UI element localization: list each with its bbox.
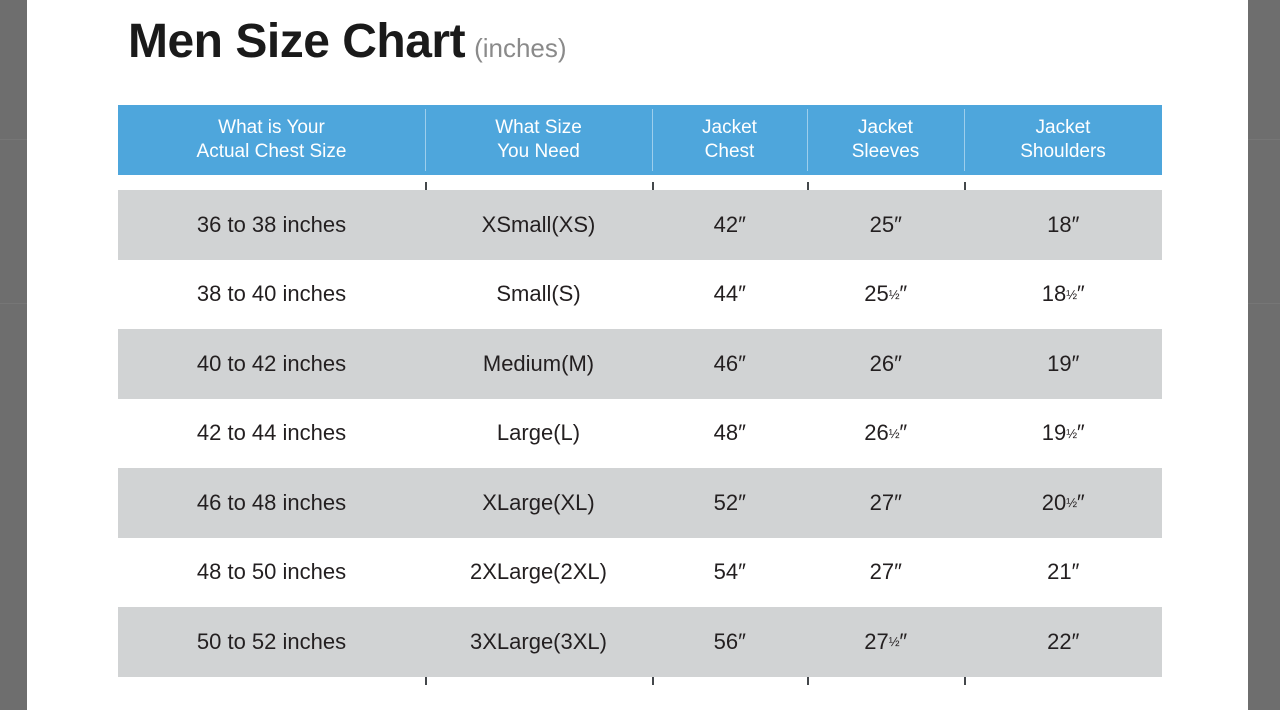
- column-header-line2: Chest: [705, 140, 755, 164]
- letterbox-right: [1248, 0, 1280, 710]
- cell-actual-chest-size: 36 to 38 inches: [118, 190, 425, 260]
- inch-mark-glyph: ″: [738, 490, 745, 516]
- size-chart-page: Men Size Chart(inches) What is Your Actu…: [27, 0, 1248, 710]
- cell-jacket-shoulders: 21″: [964, 538, 1162, 608]
- letterbox-seam: [0, 139, 27, 140]
- cell-actual-chest-size: 50 to 52 inches: [118, 607, 425, 677]
- cell-jacket-chest: 46″: [652, 329, 807, 399]
- inch-mark-glyph: ″: [1072, 351, 1079, 377]
- table-row[interactable]: 36 to 38 inchesXSmall(XS)42″25″18″: [118, 190, 1162, 260]
- inch-mark-glyph: ″: [738, 559, 745, 585]
- column-header-line1: What Size: [495, 116, 582, 140]
- cell-jacket-shoulders: 18″: [964, 190, 1162, 260]
- letterbox-seam: [1248, 303, 1280, 304]
- cell-jacket-sleeves: 27½″: [807, 607, 964, 677]
- inch-mark-glyph: ″: [1077, 281, 1084, 307]
- cell-size-you-need: 3XLarge(3XL): [425, 607, 652, 677]
- size-chart-table: What is Your Actual Chest Size What Size…: [118, 105, 1162, 677]
- cell-jacket-sleeves: 25½″: [807, 260, 964, 330]
- half-fraction-glyph: ½: [889, 287, 900, 302]
- inch-mark-glyph: ″: [1077, 490, 1084, 516]
- inch-mark-glyph: ″: [1072, 629, 1079, 655]
- cell-size-you-need: XLarge(XL): [425, 468, 652, 538]
- inch-mark-glyph: ″: [899, 420, 906, 446]
- column-header-line1: Jacket: [702, 116, 757, 140]
- cell-jacket-shoulders: 20½″: [964, 468, 1162, 538]
- cell-actual-chest-size: 42 to 44 inches: [118, 399, 425, 469]
- letterbox-left: [0, 0, 27, 710]
- half-fraction-glyph: ½: [889, 634, 900, 649]
- cell-jacket-sleeves: 26½″: [807, 399, 964, 469]
- table-body: 36 to 38 inchesXSmall(XS)42″25″18″38 to …: [118, 190, 1162, 677]
- column-header-jacket-sleeves: Jacket Sleeves: [807, 105, 964, 175]
- inch-mark-glyph: ″: [738, 420, 745, 446]
- table-row[interactable]: 48 to 50 inches2XLarge(2XL)54″27″21″: [118, 538, 1162, 608]
- cell-jacket-shoulders: 18½″: [964, 260, 1162, 330]
- cell-actual-chest-size: 48 to 50 inches: [118, 538, 425, 608]
- cell-size-you-need: Medium(M): [425, 329, 652, 399]
- inch-mark-glyph: ″: [1072, 212, 1079, 238]
- inch-mark-glyph: ″: [894, 351, 901, 377]
- inch-mark-glyph: ″: [899, 629, 906, 655]
- cell-size-you-need: 2XLarge(2XL): [425, 538, 652, 608]
- table-row[interactable]: 42 to 44 inchesLarge(L)48″26½″19½″: [118, 399, 1162, 469]
- cell-actual-chest-size: 38 to 40 inches: [118, 260, 425, 330]
- cell-jacket-sleeves: 26″: [807, 329, 964, 399]
- cell-jacket-shoulders: 19″: [964, 329, 1162, 399]
- table-row[interactable]: 46 to 48 inchesXLarge(XL)52″27″20½″: [118, 468, 1162, 538]
- column-header-actual-chest-size: What is Your Actual Chest Size: [118, 105, 425, 175]
- cell-jacket-chest: 44″: [652, 260, 807, 330]
- table-row[interactable]: 50 to 52 inches3XLarge(3XL)56″27½″22″: [118, 607, 1162, 677]
- table-row[interactable]: 40 to 42 inchesMedium(M)46″26″19″: [118, 329, 1162, 399]
- half-fraction-glyph: ½: [1066, 426, 1077, 441]
- table-header-row: What is Your Actual Chest Size What Size…: [118, 105, 1162, 175]
- cell-jacket-chest: 48″: [652, 399, 807, 469]
- cell-jacket-chest: 54″: [652, 538, 807, 608]
- letterbox-seam: [0, 303, 27, 304]
- inch-mark-glyph: ″: [738, 351, 745, 377]
- cell-size-you-need: Small(S): [425, 260, 652, 330]
- column-header-line1: Jacket: [1036, 116, 1091, 140]
- letterbox-seam: [1248, 139, 1280, 140]
- half-fraction-glyph: ½: [1066, 287, 1077, 302]
- cell-jacket-chest: 52″: [652, 468, 807, 538]
- inch-mark-glyph: ″: [894, 212, 901, 238]
- half-fraction-glyph: ½: [889, 426, 900, 441]
- cell-jacket-sleeves: 27″: [807, 538, 964, 608]
- inch-mark-glyph: ″: [738, 629, 745, 655]
- half-fraction-glyph: ½: [1066, 495, 1077, 510]
- column-header-jacket-chest: Jacket Chest: [652, 105, 807, 175]
- column-header-line1: Jacket: [858, 116, 913, 140]
- inch-mark-glyph: ″: [899, 281, 906, 307]
- cell-jacket-chest: 42″: [652, 190, 807, 260]
- inch-mark-glyph: ″: [894, 559, 901, 585]
- column-header-line2: Sleeves: [852, 140, 920, 164]
- column-header-line2: Actual Chest Size: [197, 140, 347, 164]
- cell-actual-chest-size: 46 to 48 inches: [118, 468, 425, 538]
- cell-size-you-need: Large(L): [425, 399, 652, 469]
- cell-jacket-sleeves: 27″: [807, 468, 964, 538]
- column-header-line1: What is Your: [218, 116, 325, 140]
- inch-mark-glyph: ″: [738, 212, 745, 238]
- cell-jacket-shoulders: 22″: [964, 607, 1162, 677]
- inch-mark-glyph: ″: [738, 281, 745, 307]
- cell-jacket-chest: 56″: [652, 607, 807, 677]
- column-header-jacket-shoulders: Jacket Shoulders: [964, 105, 1162, 175]
- cell-jacket-shoulders: 19½″: [964, 399, 1162, 469]
- column-header-line2: You Need: [497, 140, 580, 164]
- inch-mark-glyph: ″: [1077, 420, 1084, 446]
- column-header-line2: Shoulders: [1020, 140, 1106, 164]
- cell-actual-chest-size: 40 to 42 inches: [118, 329, 425, 399]
- inch-mark-glyph: ″: [894, 490, 901, 516]
- cell-size-you-need: XSmall(XS): [425, 190, 652, 260]
- inch-mark-glyph: ″: [1072, 559, 1079, 585]
- cell-jacket-sleeves: 25″: [807, 190, 964, 260]
- page-title-units: (inches): [474, 33, 566, 63]
- page-title-main: Men Size Chart: [128, 15, 465, 68]
- page-title: Men Size Chart(inches): [128, 18, 567, 66]
- table-row[interactable]: 38 to 40 inchesSmall(S)44″25½″18½″: [118, 260, 1162, 330]
- column-header-size-you-need: What Size You Need: [425, 105, 652, 175]
